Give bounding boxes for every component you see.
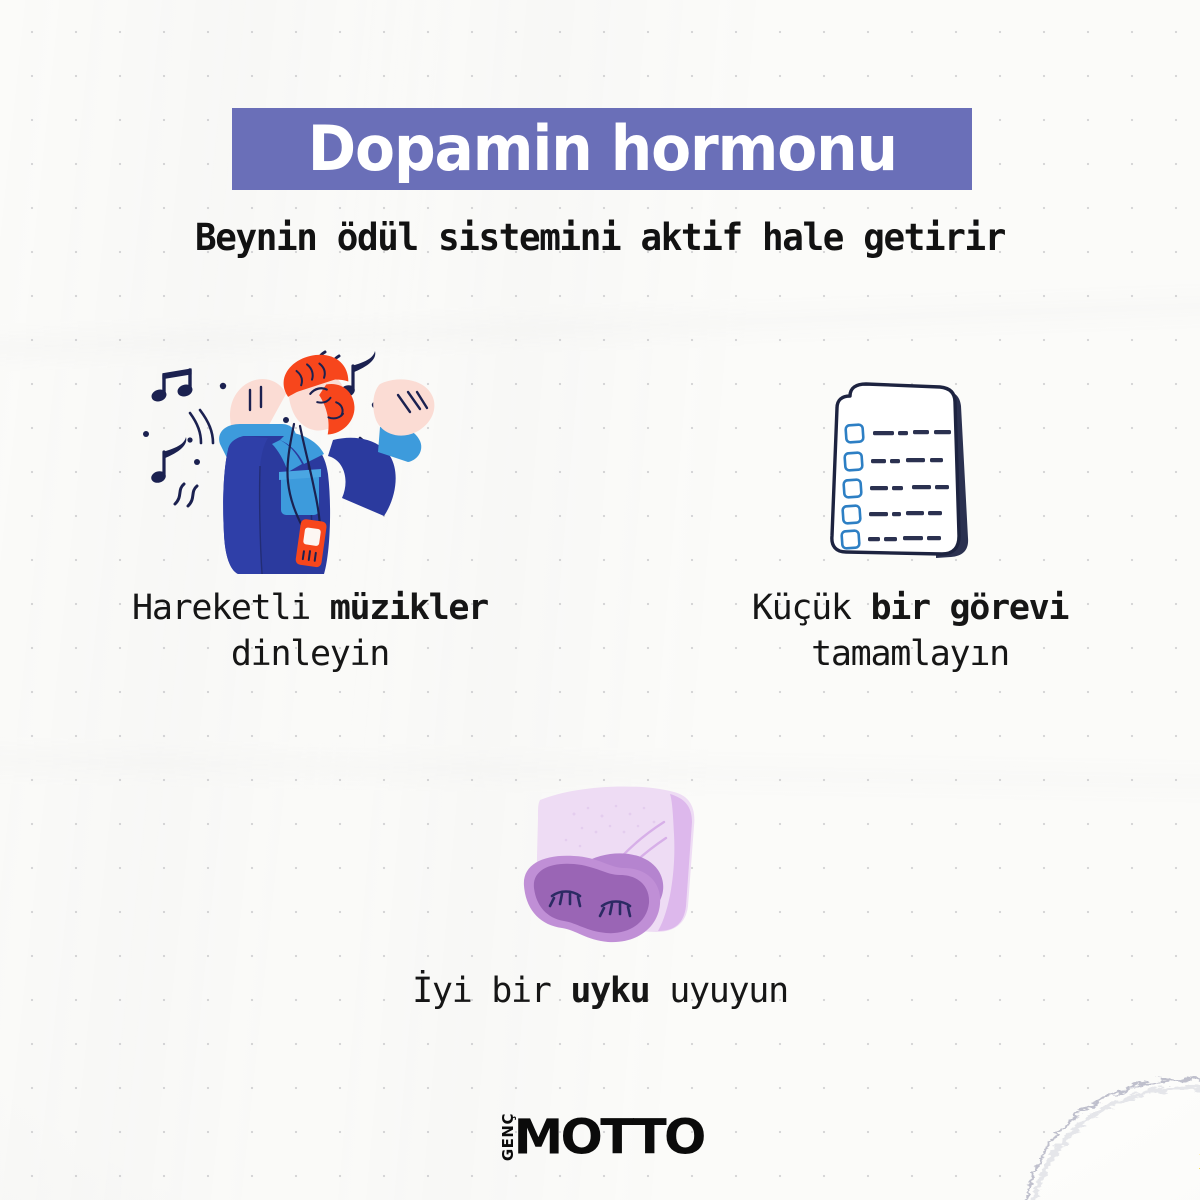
caption-music: Hareketli müzikler dinleyin	[60, 585, 560, 677]
caption-sleep-tail: uyuyun	[649, 971, 787, 1011]
poster-canvas: Dopamin hormonu Beynin ödül sistemini ak…	[0, 0, 1200, 1200]
brand-logo: GENÇ MOTTO	[0, 1113, 1200, 1161]
caption-sleep-plain: İyi bir	[412, 971, 570, 1011]
caption-task-line1: Küçük bir görevi	[660, 585, 1160, 631]
checklist-notepad-illustration	[818, 378, 1004, 570]
caption-sleep: İyi bir uyku uyuyun	[350, 968, 850, 1014]
title-banner: Dopamin hormonu	[232, 108, 972, 190]
sleep-mask-pillow-illustration	[478, 778, 714, 962]
page-subtitle: Beynin ödül sistemini aktif hale getirir	[18, 216, 1182, 259]
caption-sleep-line1: İyi bir uyku uyuyun	[350, 968, 850, 1014]
caption-music-line1: Hareketli müzikler	[60, 585, 560, 631]
caption-sleep-bold: uyku	[570, 971, 649, 1011]
logo-motto-text: MOTTO	[514, 1113, 704, 1161]
person-figure	[219, 348, 434, 574]
caption-music-line2: dinleyin	[60, 631, 560, 677]
person-listening-music-illustration	[128, 348, 468, 578]
caption-task-plain: Küçük	[752, 588, 871, 628]
caption-task-line2: tamamlayın	[660, 631, 1160, 677]
caption-task: Küçük bir görevi tamamlayın	[660, 585, 1160, 677]
page-title: Dopamin hormonu	[307, 118, 896, 180]
caption-music-bold: müzikler	[330, 588, 488, 628]
caption-music-plain: Hareketli	[132, 588, 330, 628]
caption-task-bold: bir görevi	[870, 588, 1068, 628]
